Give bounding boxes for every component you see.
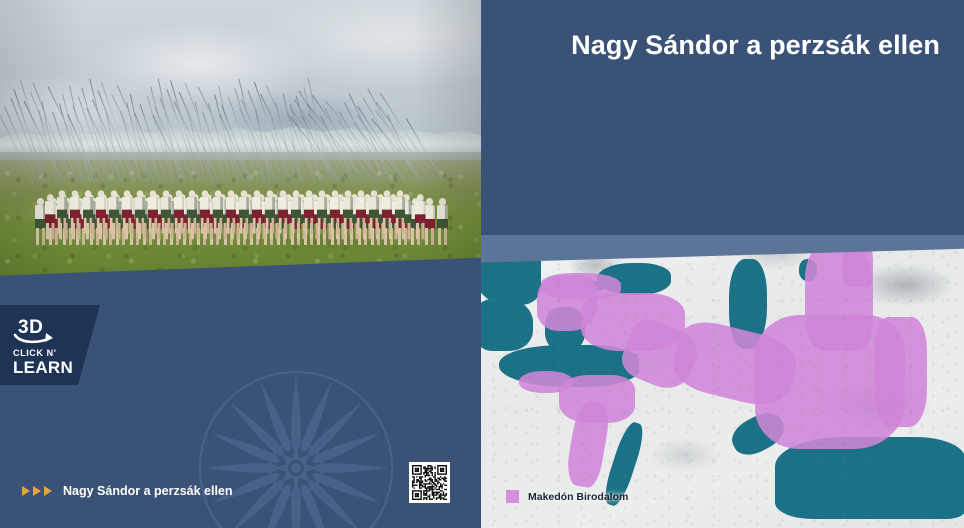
sea-arabian — [775, 437, 964, 519]
qr-code[interactable] — [409, 462, 450, 503]
page-title: Nagy Sándor a perzsák ellen — [571, 30, 940, 61]
bottom-caption: Nagy Sándor a perzsák ellen — [22, 484, 233, 498]
triangle-icon — [33, 486, 41, 496]
phalanx-photo — [0, 0, 481, 300]
caption-text: Nagy Sándor a perzsák ellen — [63, 484, 233, 498]
map-relief-base — [481, 235, 964, 528]
qr-code-image — [412, 465, 447, 500]
map-legend: Makedón Birodalom — [506, 490, 628, 503]
sea-tyrrhenian — [481, 299, 533, 351]
triangle-icon — [44, 486, 52, 496]
slide-root: Nagy Sándor a perzsák ellen Nagy Sándor … — [0, 0, 964, 528]
triangle-icon — [22, 486, 30, 496]
empire-india-border — [875, 317, 927, 427]
header-panel: Nagy Sándor a perzsák ellen Nagy Sándor … — [481, 0, 964, 236]
badge-3d-label: 3D — [18, 317, 43, 339]
vergina-sun-watermark — [196, 368, 396, 528]
photo-vignette — [0, 0, 481, 300]
empire-map: Makedón Birodalom — [481, 235, 964, 528]
empire-cyrenaica — [519, 371, 573, 393]
badge-click-label: CLICK N' — [13, 348, 56, 358]
legend-label: Makedón Birodalom — [528, 491, 628, 503]
legend-swatch — [506, 490, 519, 503]
caption-arrow-group — [22, 486, 52, 496]
badge-learn-label: LEARN — [13, 358, 73, 378]
